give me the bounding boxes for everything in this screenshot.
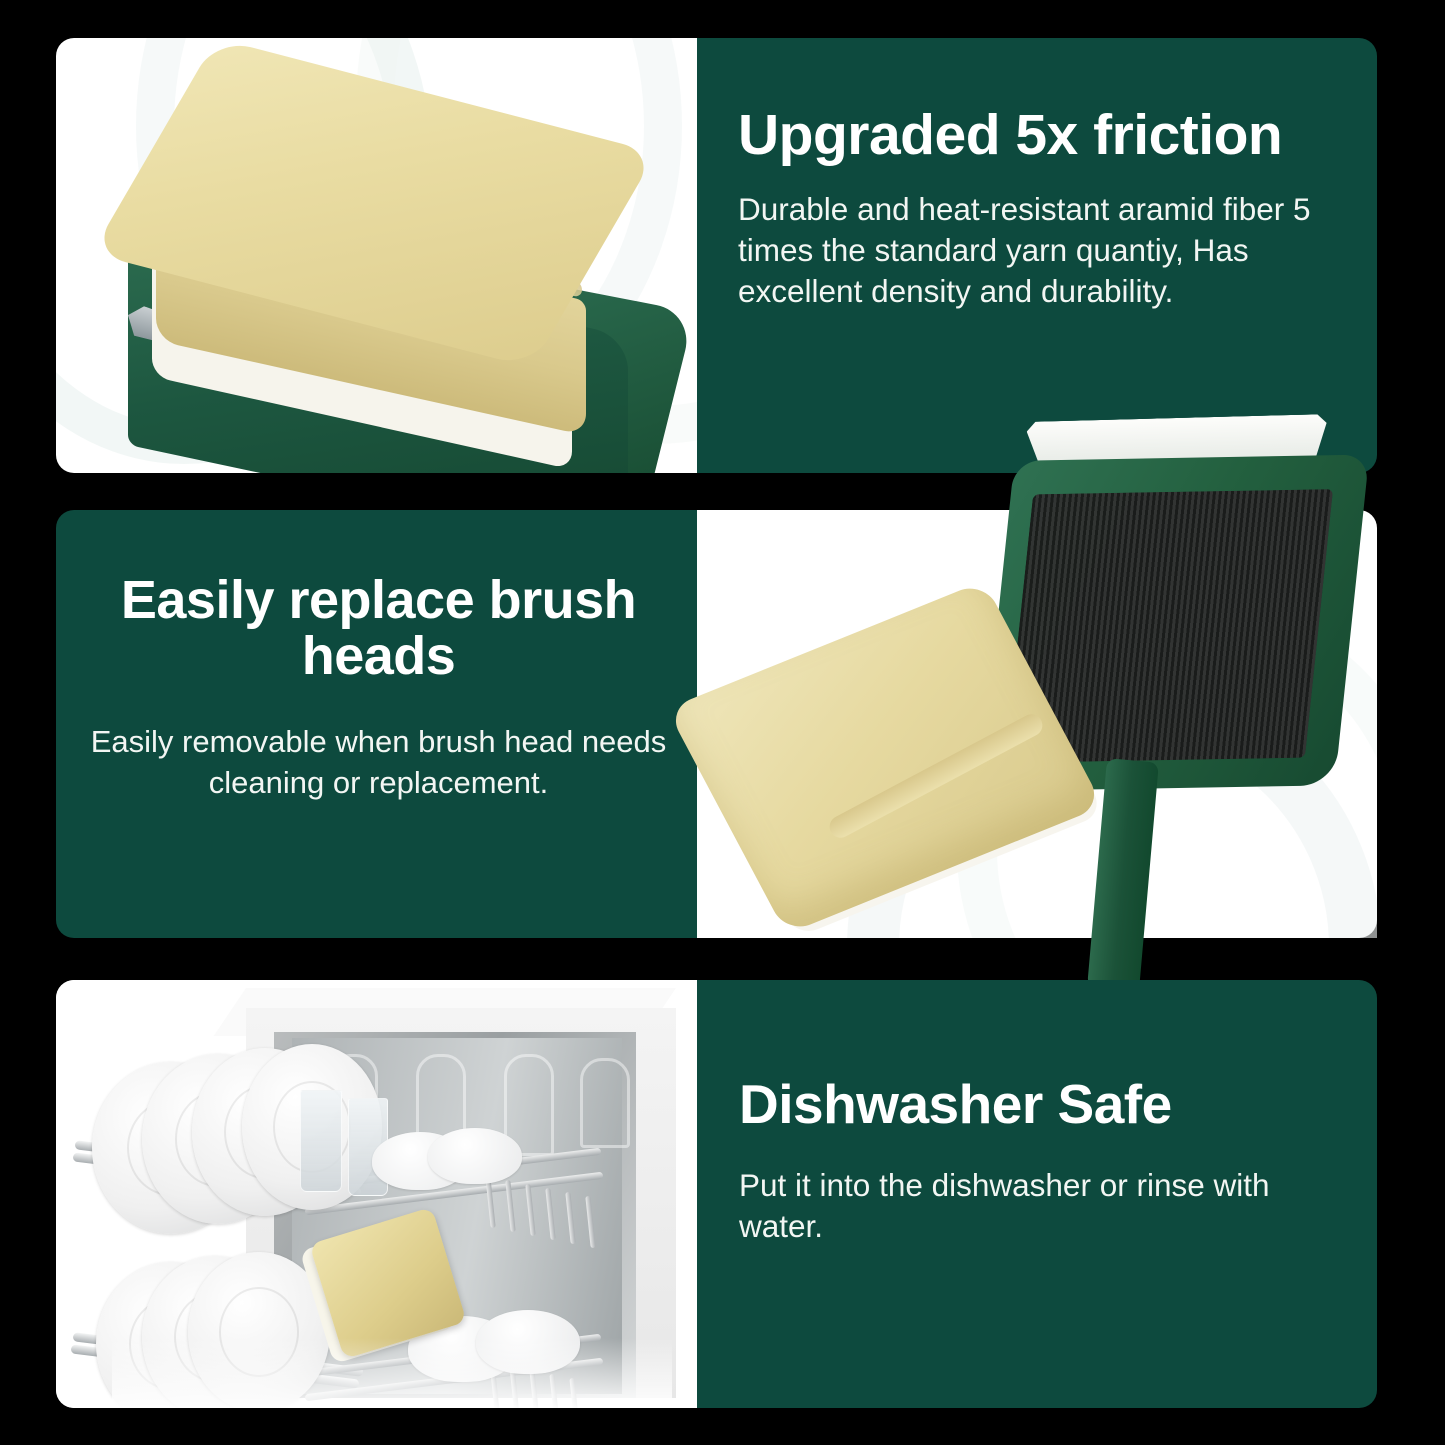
panel-body: Easily removable when brush head needs c… [86,722,671,803]
panel-heading: Dishwasher Safe [739,1076,1359,1133]
feature-text-upgraded-friction: Upgraded 5x friction Durable and heat-re… [697,38,1377,473]
feature-text-replace-brush-heads: Easily replace brush heads Easily remova… [56,510,697,938]
panel-heading: Easily replace brush heads [86,572,671,684]
product-photo-dishwasher [56,980,697,1408]
panel-body: Durable and heat-resistant aramid fiber … [738,189,1358,312]
feature-text-dishwasher-safe: Dishwasher Safe Put it into the dishwash… [697,980,1377,1408]
dishwasher-illustration [56,980,697,1408]
green-handle [1087,758,1159,992]
feature-panel-upgraded-friction: Upgraded 5x friction Durable and heat-re… [56,38,1377,473]
brush-head-illustration [697,510,1377,938]
panel-body: Put it into the dishwasher or rinse with… [739,1165,1359,1247]
panel-heading: Upgraded 5x friction [738,106,1358,165]
infographic-canvas: Upgraded 5x friction Durable and heat-re… [0,0,1445,1445]
product-photo-brush-head [697,510,1377,938]
feature-panel-dishwasher-safe: Dishwasher Safe Put it into the dishwash… [56,980,1377,1408]
aramid-pad-illustration [56,38,697,473]
product-photo-aramid-pad [56,38,697,473]
feature-panel-replace-brush-heads: Easily replace brush heads Easily remova… [56,510,1377,938]
